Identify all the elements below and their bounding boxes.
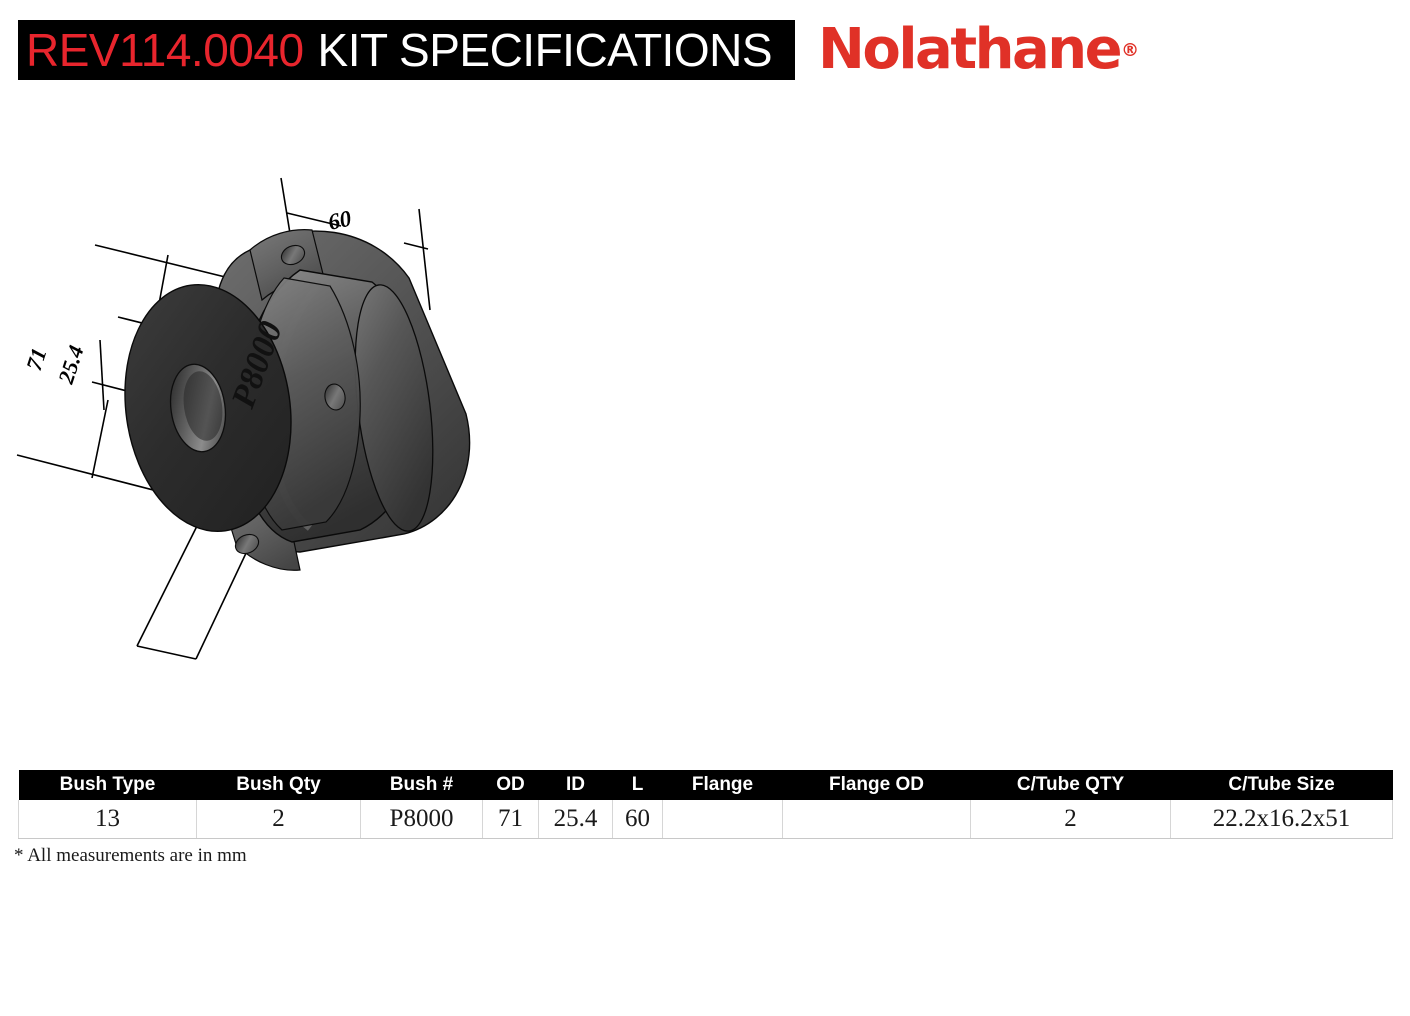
- header-banner: REV114.0040 KIT SPECIFICATIONS: [18, 20, 795, 80]
- cell-od: 71: [483, 800, 539, 839]
- column-header-bush-qty: Bush Qty: [197, 770, 361, 800]
- cell-id: 25.4: [539, 800, 613, 839]
- cell-ctube-size: 22.2x16.2x51: [1171, 800, 1393, 839]
- table-row: 13 2 P8000 71 25.4 60 2 22.2x16.2x51: [19, 800, 1393, 839]
- registered-trademark-icon: ®: [1121, 40, 1139, 61]
- column-header-ctube-qty: C/Tube QTY: [971, 770, 1171, 800]
- cell-flange-od: [783, 800, 971, 839]
- column-header-flange-od: Flange OD: [783, 770, 971, 800]
- brand-wordmark: Nolathane: [818, 22, 1120, 78]
- column-header-bush-number: Bush #: [361, 770, 483, 800]
- part-technical-drawing: 60 71 25.4: [0, 110, 620, 710]
- kit-title: KIT SPECIFICATIONS: [304, 23, 772, 77]
- column-header-ctube-size: C/Tube Size: [1171, 770, 1393, 800]
- cell-flange: [663, 800, 783, 839]
- cell-bush-number: P8000: [361, 800, 483, 839]
- column-header-l: L: [613, 770, 663, 800]
- cell-bush-type: 13: [19, 800, 197, 839]
- cell-bush-qty: 2: [197, 800, 361, 839]
- specification-table: Bush Type Bush Qty Bush # OD ID L Flange…: [18, 770, 1392, 839]
- kit-code: REV114.0040: [18, 23, 304, 77]
- cell-l: 60: [613, 800, 663, 839]
- cell-ctube-qty: 2: [971, 800, 1171, 839]
- column-header-id: ID: [539, 770, 613, 800]
- column-header-od: OD: [483, 770, 539, 800]
- table-header-row: Bush Type Bush Qty Bush # OD ID L Flange…: [19, 770, 1393, 800]
- nolathane-logo: Nolathane ®: [818, 18, 1139, 82]
- measurement-units-footnote: * All measurements are in mm: [14, 845, 247, 867]
- dimension-label-outer-diameter: 71: [21, 345, 52, 374]
- dimension-label-length: 60: [326, 206, 354, 235]
- column-header-flange: Flange: [663, 770, 783, 800]
- dimension-label-inner-diameter: 25.4: [53, 342, 89, 387]
- column-header-bush-type: Bush Type: [19, 770, 197, 800]
